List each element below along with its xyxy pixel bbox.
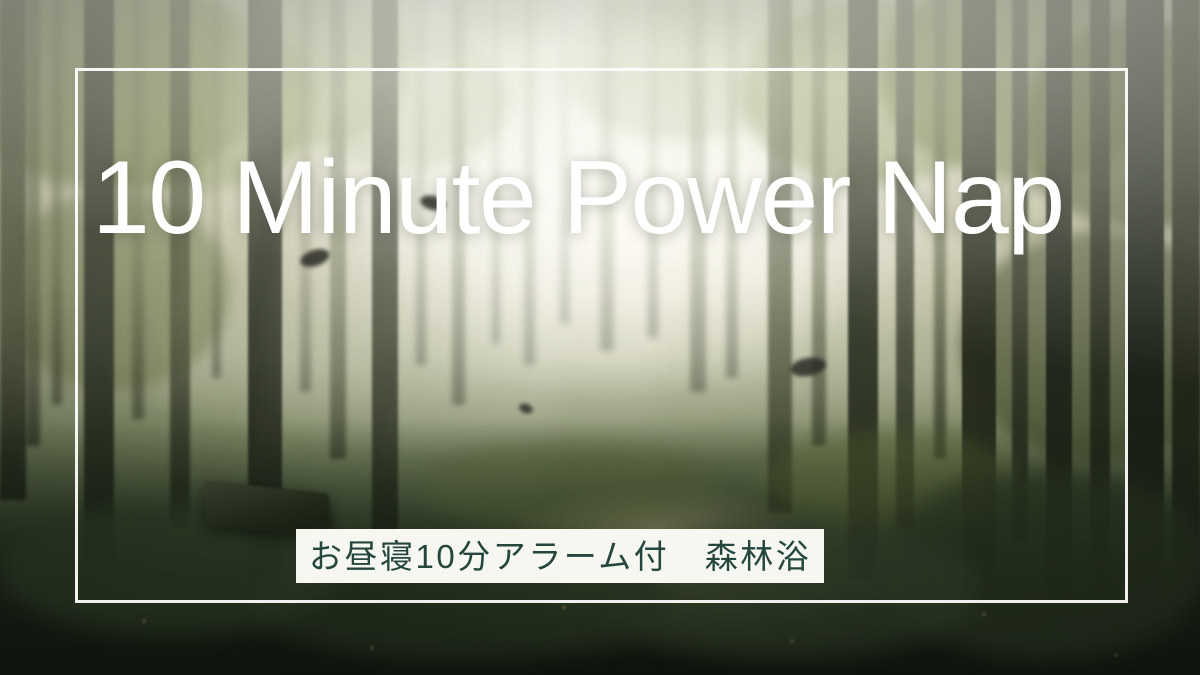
subtitle-banner: お昼寝10分アラーム付 森林浴: [296, 529, 824, 583]
page-title: 10 Minute Power Nap: [92, 146, 1132, 250]
subtitle-text: お昼寝10分アラーム付 森林浴: [309, 540, 811, 573]
video-thumbnail: 10 Minute Power Nap お昼寝10分アラーム付 森林浴: [0, 0, 1200, 675]
